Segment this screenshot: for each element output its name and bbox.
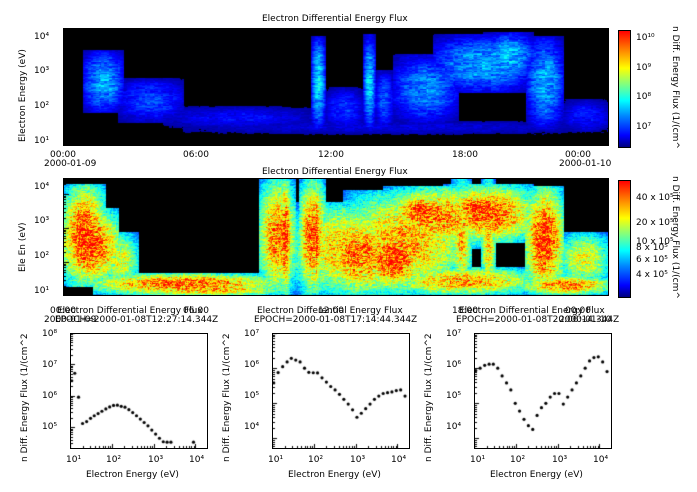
top-xtick-0600: 06:00 [183,150,209,160]
spectrum-3-xtick-1: 10¹ [470,455,485,465]
spectrum-2-xtick-2: 10² [308,455,323,465]
spectrum-1-ytick-5: 10⁵ [42,422,57,432]
top-cbtick-8: 10⁸ [636,92,651,102]
middle-cbtick-40: 40 x 10⁵ [636,193,674,203]
top-xdate-left: 2000-01-09 [44,159,96,169]
top-xtick-1800: 18:00 [452,150,478,160]
middle-colorbar-gradient [619,181,630,297]
middle-cbtick-6: 6 x 10⁵ [636,255,668,265]
middle-panel-ylabel: Ele En (eV) [18,222,28,272]
spectrum-3-xlabel: Electron Energy (eV) [490,470,583,480]
spectrum-3-ytick-4: 10⁴ [446,422,461,432]
spectrum-1-xtick-4: 10⁴ [189,455,204,465]
middle-ytick-3: 10³ [34,216,49,226]
spectrum-2-xtick-4: 10⁴ [391,455,406,465]
middle-colorbar-label-wrap: n Diff. Energy Flux (1/(cm^ [680,176,697,186]
top-cbtick-7: 10⁷ [636,122,651,132]
top-ytick-4: 10⁴ [34,32,49,42]
top-cbtick-9: 10⁹ [636,63,651,73]
spectrum-2-epoch: EPOCH=2000-01-08T17:14:44.344Z [254,315,417,325]
top-panel-ylabel: Electron Energy (eV) [18,49,28,142]
spectrum-2-xlabel: Electron Energy (eV) [288,470,381,480]
spectrum-2-xtick-3: 10³ [350,455,365,465]
top-xdate-right: 2000-01-10 [559,159,611,169]
spectrum-1-xlabel: Electron Energy (eV) [86,470,179,480]
top-colorbar-gradient [619,31,630,147]
top-colorbar-label-wrap: n Diff. Energy Flux (1/(cm^ [680,26,697,36]
spectrum-2-ytick-5: 10⁵ [244,391,259,401]
spectrum-2-ytick-6: 10⁶ [244,360,259,370]
top-xtick-1200: 12:00 [318,150,344,160]
spectrum-2-ytick-7: 10⁷ [244,329,259,339]
spectrum-1-ytick-6: 10⁶ [42,391,57,401]
middle-cbtick-8: 8 x 10⁵ [636,243,668,253]
spectrum-2-ytick-4: 10⁴ [244,422,259,432]
spectrum-1-epoch: EPOCH=2000-01-08T12:27:14.344Z [55,315,218,325]
spectrum-3-xtick-2: 10² [510,455,525,465]
middle-panel-title: Electron Differential Energy Flux [262,167,408,177]
spectrum-1-ytick-8: 10⁸ [42,329,57,339]
spectrum-2-ylabel: n Diff. Energy Flux (1/(cm^2 [222,333,232,462]
spectrum-3-plot[interactable] [474,333,612,449]
middle-colorbar[interactable] [618,180,631,298]
spectrum-1-ylabel: n Diff. Energy Flux (1/(cm^2 [20,333,30,462]
top-ytick-1: 10¹ [34,136,49,146]
top-ytick-3: 10³ [34,66,49,76]
top-spectrogram[interactable] [63,28,609,146]
top-colorbar-label: n Diff. Energy Flux (1/(cm^ [670,26,680,149]
spectrum-3-xtick-3: 10³ [552,455,567,465]
middle-ytick-1: 10¹ [34,286,49,296]
spectrum-1-ytick-7: 10⁷ [42,360,57,370]
middle-spectrogram[interactable] [63,178,609,296]
spectrum-3-ytick-7: 10⁷ [446,329,461,339]
spectrum-3-xtick-4: 10⁴ [593,455,608,465]
spectrum-3-ylabel: n Diff. Energy Flux (1/(cm^2 [424,333,434,462]
middle-ytick-4: 10⁴ [34,182,49,192]
spectrum-1-xtick-3: 10³ [148,455,163,465]
top-panel-title: Electron Differential Energy Flux [262,14,408,24]
spectrum-3-epoch: EPOCH=2000-01-08T20:06:14.344Z [456,315,619,325]
spectrum-1-xtick-2: 10² [106,455,121,465]
middle-panel-ylabel-wrap: Ele En (eV) [18,272,68,282]
middle-ytick-2: 10² [34,251,49,261]
spectrum-3-ytick-5: 10⁵ [446,391,461,401]
top-colorbar[interactable] [618,30,631,148]
spectrum-2-xtick-1: 10¹ [268,455,283,465]
middle-cbtick-4: 4 x 10⁵ [636,270,668,280]
top-cbtick-10: 10¹⁰ [636,33,655,43]
middle-colorbar-label: n Diff. Energy Flux (1/(cm^ [670,176,680,299]
spectrum-1-xtick-1: 10¹ [66,455,81,465]
top-ytick-2: 10² [34,101,49,111]
spectrum-3-ytick-6: 10⁶ [446,360,461,370]
middle-cbtick-20: 20 x 10⁵ [636,218,674,228]
spectrum-2-plot[interactable] [272,333,410,449]
spectrum-1-plot[interactable] [70,333,208,449]
